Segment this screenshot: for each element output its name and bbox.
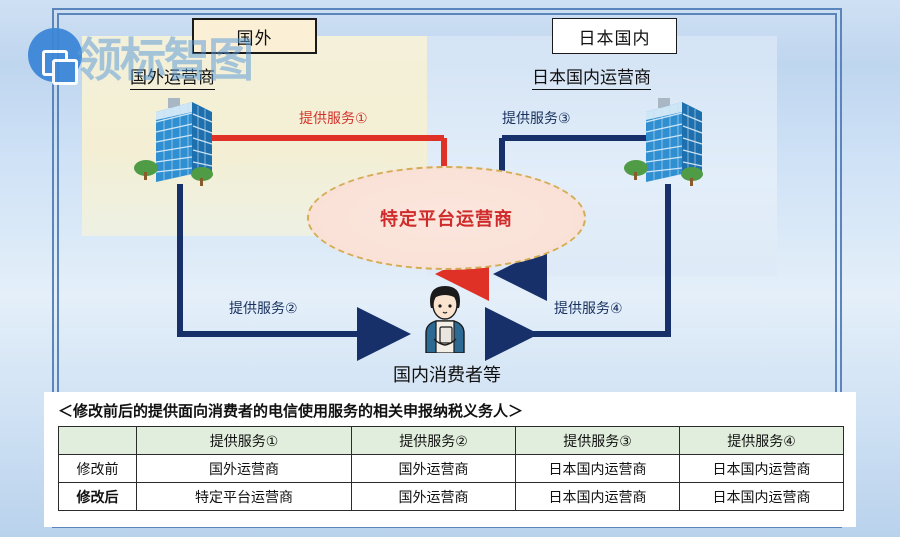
table-header-service-3: 提供服务③: [516, 427, 680, 455]
consumer-label-text: 国内消费者等: [393, 365, 501, 386]
zone-domestic-text: 日本国内: [579, 24, 651, 49]
cell-before-service-3: 日本国内运营商: [516, 455, 680, 483]
office-building-icon-foreign: [132, 94, 224, 190]
table-row: 修改后 特定平台运营商 国外运营商 日本国内运营商 日本国内运营商: [59, 483, 844, 511]
tax-liability-table: 提供服务① 提供服务② 提供服务③ 提供服务④ 修改前 国外运营商 国外运营商 …: [58, 426, 844, 511]
flow-label-3: 提供服务③: [502, 108, 571, 128]
platform-operator-ellipse: 特定平台运营商: [307, 166, 586, 270]
platform-operator-label: 特定平台运营商: [380, 205, 513, 231]
office-building-icon-domestic: [622, 94, 714, 190]
row-label-after: 修改后: [59, 483, 137, 511]
cell-after-service-1: 特定平台运营商: [137, 483, 352, 511]
flow-label-2: 提供服务②: [229, 298, 298, 318]
zone-label-foreign: 国外: [192, 18, 317, 54]
row-label-before: 修改前: [59, 455, 137, 483]
flow-label-4: 提供服务④: [554, 298, 623, 318]
table-header-row: 提供服务① 提供服务② 提供服务③ 提供服务④: [59, 427, 844, 455]
zone-foreign-text: 国外: [237, 24, 273, 49]
cell-after-service-3: 日本国内运营商: [516, 483, 680, 511]
flow-diagram: 国外 日本国内 国外运营商 日本国内运营商: [62, 16, 832, 386]
table-corner-cell: [59, 427, 137, 455]
consumer-label: 国内消费者等: [372, 361, 522, 386]
cell-before-service-2: 国外运营商: [352, 455, 516, 483]
slide-canvas: 国外 日本国内 国外运营商 日本国内运营商: [0, 0, 900, 537]
label-domestic-operator: 日本国内运营商: [532, 63, 651, 90]
summary-panel: ＜修改前后的提供面向消费者的电信使用服务的相关申报纳税义务人＞ 提供服务① 提供…: [44, 392, 856, 527]
cell-before-service-1: 国外运营商: [137, 455, 352, 483]
panel-title: ＜修改前后的提供面向消费者的电信使用服务的相关申报纳税义务人＞: [58, 400, 523, 421]
cell-after-service-2: 国外运营商: [352, 483, 516, 511]
consumer-person-icon: [410, 281, 480, 353]
table-header-service-2: 提供服务②: [352, 427, 516, 455]
table-row: 修改前 国外运营商 国外运营商 日本国内运营商 日本国内运营商: [59, 455, 844, 483]
cell-after-service-4: 日本国内运营商: [680, 483, 844, 511]
flow-label-1: 提供服务①: [299, 108, 368, 128]
cell-before-service-4: 日本国内运营商: [680, 455, 844, 483]
table-header-service-4: 提供服务④: [680, 427, 844, 455]
label-foreign-operator: 国外运营商: [130, 63, 215, 90]
table-header-service-1: 提供服务①: [137, 427, 352, 455]
zone-label-domestic: 日本国内: [552, 18, 677, 54]
